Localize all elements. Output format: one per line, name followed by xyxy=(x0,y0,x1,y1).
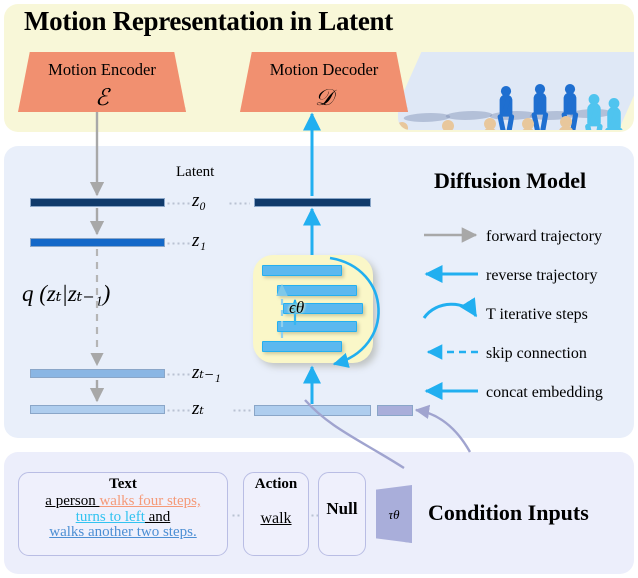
text-segment-1: walks four steps, xyxy=(99,493,200,509)
text-segment-2: turns to left xyxy=(76,509,145,525)
latent-bar-z0-right xyxy=(254,198,371,207)
latent-label-zT-1: zₜ₋₁ xyxy=(192,361,221,384)
null-label: Null xyxy=(319,473,365,519)
legend-label-skip: skip connection xyxy=(486,345,587,363)
latent-bar-z1-left xyxy=(30,238,165,247)
latent-label-zT: zₜ xyxy=(192,397,204,420)
text-box-heading: Text xyxy=(19,473,227,493)
text-condition-content: a person walks four steps, turns to left… xyxy=(19,493,227,541)
legend-label-concat: concat embedding xyxy=(486,384,603,402)
text-condition-box[interactable]: Text a person walks four steps, turns to… xyxy=(18,472,228,556)
legend-label-iterative: T iterative steps xyxy=(486,306,588,324)
encoder-symbol: ℰ xyxy=(18,79,186,111)
latent-column-label: Latent xyxy=(176,164,214,181)
forward-process-formula: q (zₜ|zₜ₋₁) xyxy=(22,281,110,307)
legend-label-reverse: reverse trajectory xyxy=(486,267,597,285)
action-value: walk xyxy=(244,493,308,528)
denoiser-network-block[interactable]: ϵθ xyxy=(253,255,373,363)
latent-bar-z0-left xyxy=(30,198,165,207)
concat-embedding-segment xyxy=(377,405,413,416)
condition-encoder-block[interactable]: τθ xyxy=(376,485,412,543)
motion-figures-illustration xyxy=(398,6,634,130)
encoder-label: Motion Encoder xyxy=(18,52,186,79)
diffusion-model-title: Diffusion Model xyxy=(434,168,634,194)
denoiser-symbol: ϵθ xyxy=(289,298,304,318)
motion-decoder-block[interactable]: Motion Decoder 𝒟 xyxy=(240,52,408,112)
text-segment-4: walks another two steps. xyxy=(49,524,196,540)
action-condition-box[interactable]: Action walk xyxy=(243,472,309,556)
motion-encoder-block[interactable]: Motion Encoder ℰ xyxy=(18,52,186,112)
denoiser-layer-bar xyxy=(262,341,342,352)
denoiser-layer-bar xyxy=(277,285,357,296)
denoiser-layer-bar xyxy=(262,265,342,276)
decoder-label: Motion Decoder xyxy=(240,52,408,79)
page-title: Motion Representation in Latent xyxy=(24,6,424,42)
condition-inputs-title: Condition Inputs xyxy=(428,500,589,526)
denoiser-layer-bar xyxy=(277,321,357,332)
latent-bar-zT-right xyxy=(254,405,371,416)
latent-bar-zT-left xyxy=(30,405,165,414)
latent-label-z0: z₀ xyxy=(192,190,206,212)
latent-bar-zT-1-left xyxy=(30,369,165,378)
text-segment-3: and xyxy=(145,509,170,525)
latent-label-z1: z₁ xyxy=(192,230,206,252)
legend-label-forward: forward trajectory xyxy=(486,228,602,246)
text-segment-0: a person xyxy=(45,493,99,509)
null-condition-box[interactable]: Null xyxy=(318,472,366,556)
tau-symbol: τθ xyxy=(376,485,412,523)
decoder-symbol: 𝒟 xyxy=(240,79,408,111)
action-box-heading: Action xyxy=(244,473,308,493)
